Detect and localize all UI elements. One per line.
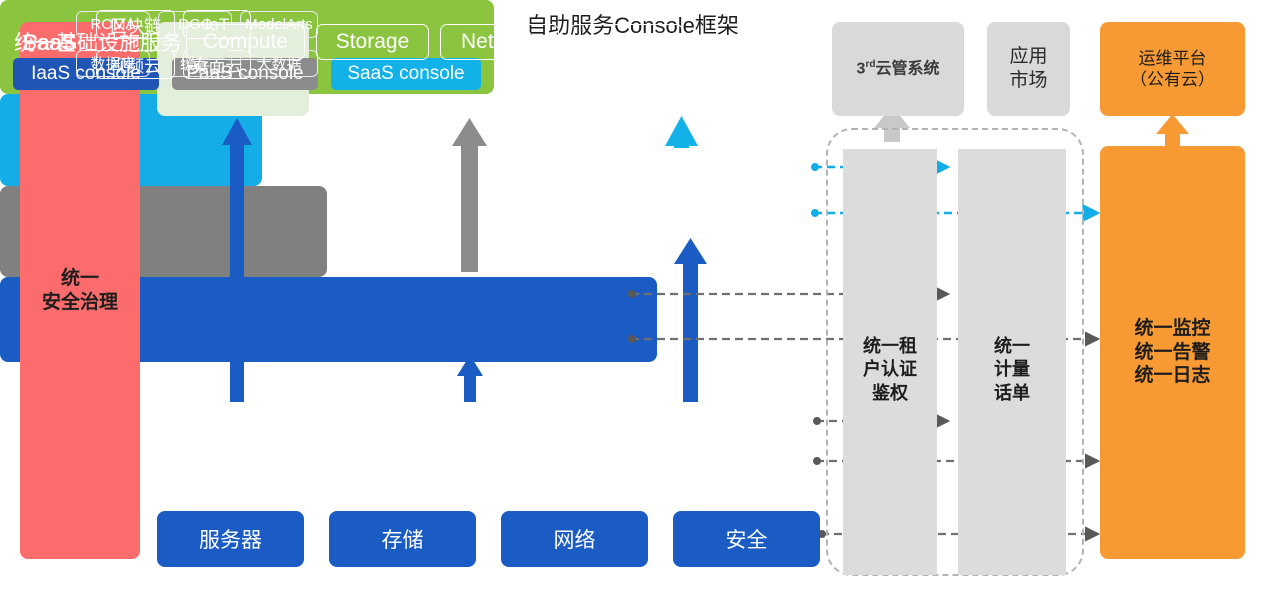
auth-line2: 户认证 xyxy=(863,359,917,379)
architecture-diagram: 统一租 户认证 鉴权 统一 计量 话单 统一 安全治理 API网关 自助服务Co… xyxy=(0,0,1265,605)
auth-line3: 鉴权 xyxy=(872,383,908,403)
security-governance-label: 统一 安全治理 xyxy=(42,267,118,315)
infra-chip-storage[interactable]: Storage xyxy=(316,24,429,60)
billing-line1: 统一 xyxy=(994,336,1030,356)
ops-main-label: 统一监控 统一告警 统一日志 xyxy=(1134,317,1210,388)
column-unified-tenant-auth: 统一租 户认证 鉴权 xyxy=(843,149,937,575)
resource-box-storage[interactable]: 存储 xyxy=(329,511,476,567)
ops-main-line1: 统一监控 xyxy=(1134,318,1210,339)
security-line1: 统一 xyxy=(61,268,99,289)
unified-security-governance-panel: 统一 安全治理 xyxy=(20,22,140,559)
ops-platform-main-panel: 统一监控 统一告警 统一日志 xyxy=(1100,146,1245,559)
app-market-box: 应用 市场 xyxy=(987,22,1070,116)
ops-platform-public-cloud-box: 运维平台 （公有云） xyxy=(1100,22,1245,116)
ops-top-label: 运维平台 （公有云） xyxy=(1130,48,1215,91)
resource-box-security[interactable]: 安全 xyxy=(673,511,820,567)
unified-infrastructure-label: 统一基础设施服务 xyxy=(14,27,182,57)
ops-main-line3: 统一日志 xyxy=(1134,365,1210,386)
arrow-ops-main-to-ops-top xyxy=(1156,114,1189,148)
resource-box-network[interactable]: 网络 xyxy=(501,511,648,567)
infra-chip-compute[interactable]: Compute xyxy=(186,24,305,60)
infra-chip-cce[interactable]: CCE xyxy=(570,24,683,60)
ops-top-line1: 运维平台 xyxy=(1139,49,1207,68)
third-party-suffix: 云管系统 xyxy=(875,60,939,77)
column-billing-label: 统一 计量 话单 xyxy=(994,335,1030,405)
app-market-label: 应用 市场 xyxy=(1009,45,1047,93)
billing-line3: 话单 xyxy=(994,383,1030,403)
security-line2: 安全治理 xyxy=(42,292,118,313)
arrow-infra-to-paas xyxy=(457,355,483,402)
column-unified-metering-billing: 统一 计量 话单 xyxy=(958,149,1066,575)
auth-line1: 统一租 xyxy=(863,336,917,356)
app-market-line1: 应用 xyxy=(1009,46,1047,67)
arrow-saas-to-saas-console xyxy=(665,116,698,148)
app-market-line2: 市场 xyxy=(1009,70,1047,91)
arrow-infra-to-saas xyxy=(674,238,707,402)
third-party-cloud-management-box: 3rd云管系统 xyxy=(832,22,964,116)
ops-main-line2: 统一告警 xyxy=(1134,342,1210,363)
infra-chip-network[interactable]: Network xyxy=(440,24,559,60)
arrow-paas-to-console xyxy=(452,118,487,272)
billing-line2: 计量 xyxy=(994,359,1030,379)
third-party-label: 3rd云管系统 xyxy=(857,59,940,79)
resource-box-server[interactable]: 服务器 xyxy=(157,511,304,567)
ops-top-line2: （公有云） xyxy=(1130,70,1215,89)
column-auth-label: 统一租 户认证 鉴权 xyxy=(863,335,917,405)
third-party-sup: rd xyxy=(865,59,875,70)
saas-console-chip[interactable]: SaaS console xyxy=(331,58,481,90)
